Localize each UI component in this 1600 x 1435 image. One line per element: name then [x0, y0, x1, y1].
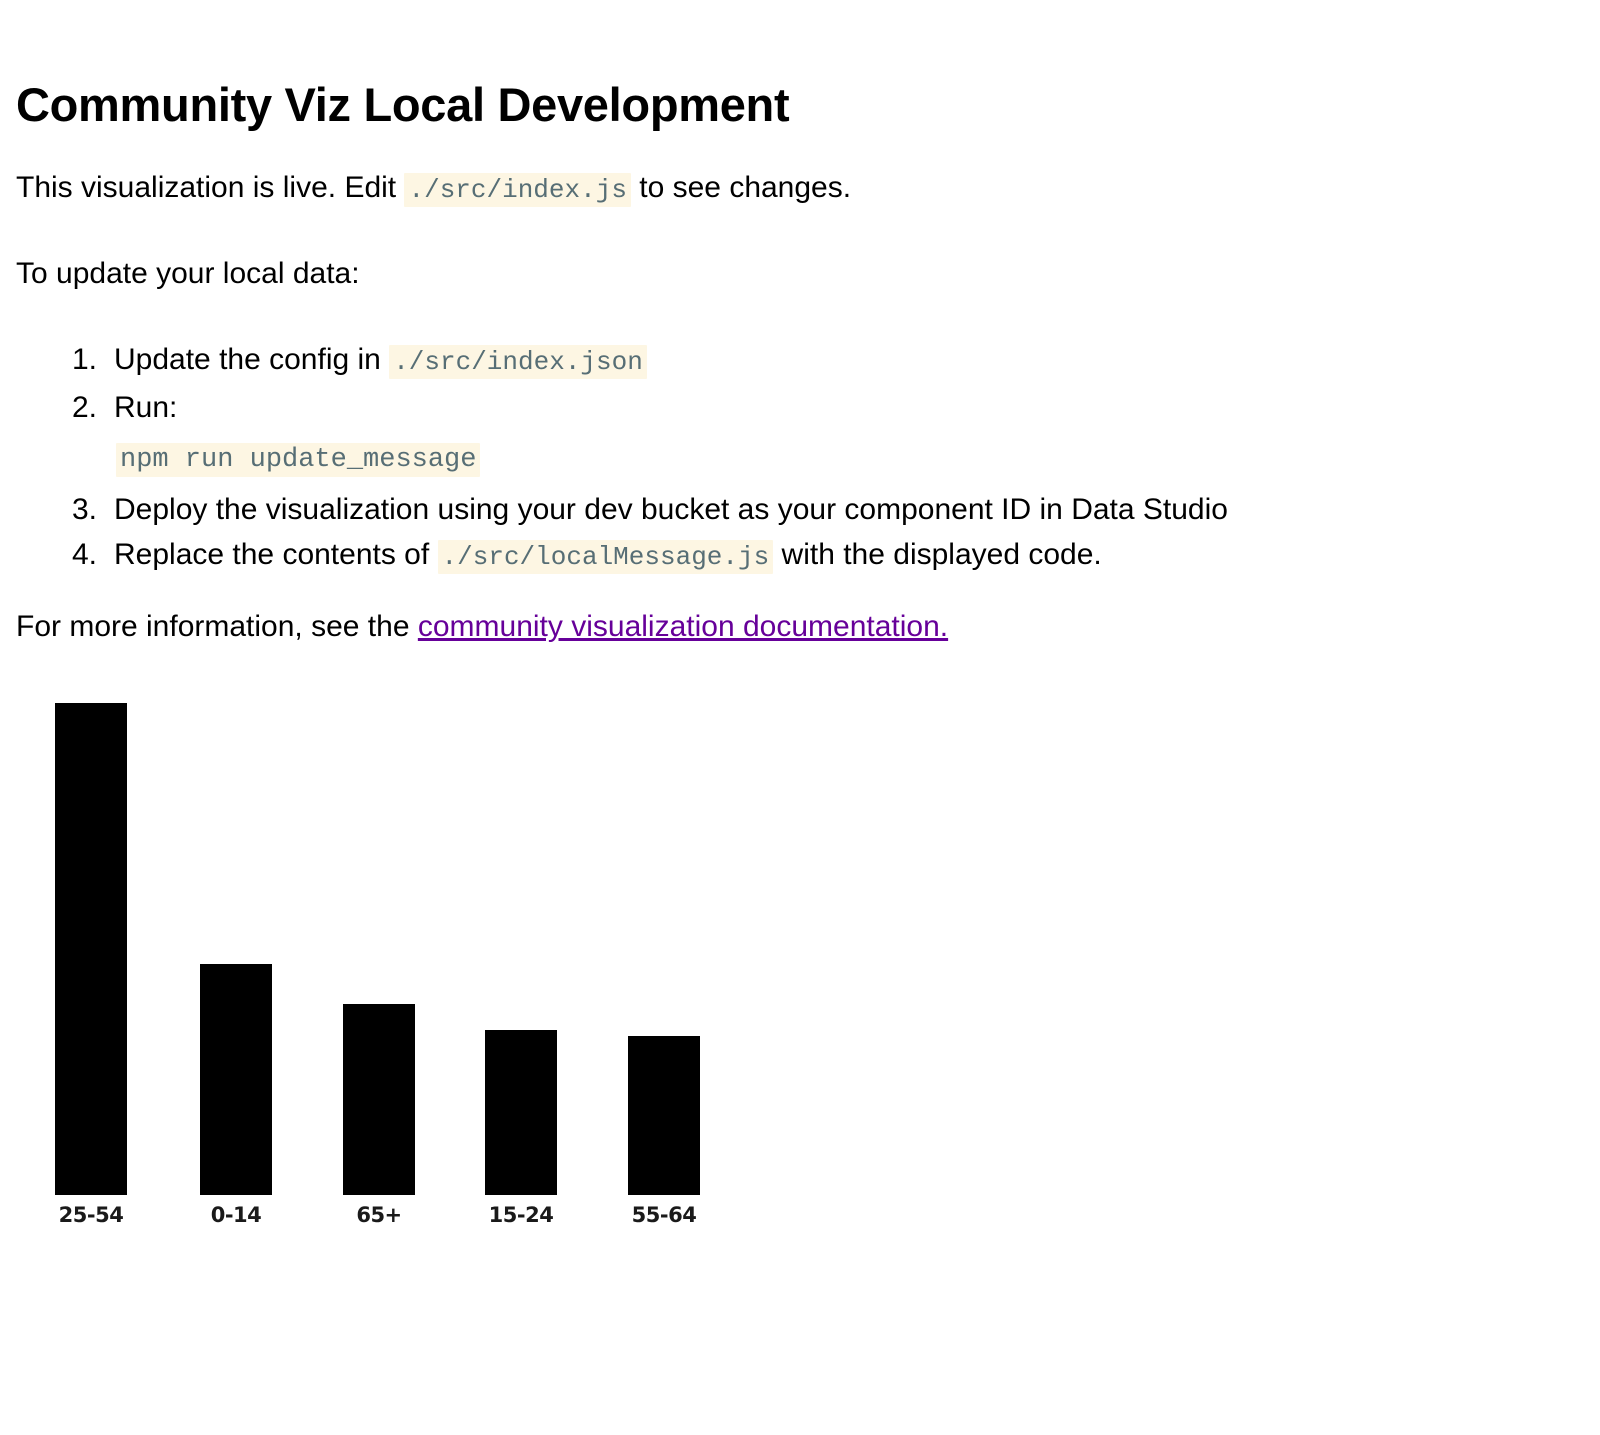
update-instructions-lead: To update your local data: — [16, 254, 360, 294]
bar-chart: 25-540-1465+15-2455-64 — [0, 700, 820, 1260]
intro-paragraph: This visualization is live. Edit ./src/i… — [16, 168, 851, 210]
list-item: 3.Deploy the visualization using your de… — [72, 487, 1228, 532]
chart-bar — [55, 703, 127, 1195]
intro-text-before: This visualization is live. Edit — [16, 171, 404, 204]
bar-category-label: 0-14 — [200, 1203, 272, 1227]
intro-text-after: to see changes. — [631, 171, 851, 204]
step-number: 1. — [72, 337, 97, 382]
chart-bar — [628, 1036, 700, 1195]
step-text-before: Deploy the visualization using your dev … — [114, 493, 1228, 526]
code-index-js: ./src/index.js — [404, 173, 630, 207]
bar-category-label: 55-64 — [628, 1203, 700, 1227]
step-text-after: with the displayed code. — [773, 538, 1102, 571]
bar-category-label: 15-24 — [485, 1203, 557, 1227]
chart-bar — [343, 1004, 415, 1195]
bar-group: 65+ — [343, 700, 415, 1195]
step-text-before: Update the config in — [114, 343, 389, 376]
step-number: 4. — [72, 532, 97, 577]
more-info-text-before: For more information, see the — [16, 610, 418, 643]
update-steps-list: 1.Update the config in ./src/index.json … — [72, 337, 1228, 580]
list-item: 1.Update the config in ./src/index.json — [72, 337, 1228, 385]
code-index-json: ./src/index.json — [389, 345, 647, 379]
step-text-before: Replace the contents of — [114, 538, 438, 571]
bar-category-label: 65+ — [343, 1203, 415, 1227]
page-title: Community Viz Local Development — [16, 77, 789, 133]
list-item: 2.Run: npm run update_message — [72, 385, 1228, 483]
bar-category-label: 25-54 — [55, 1203, 127, 1227]
chart-bar — [200, 964, 272, 1195]
bar-group: 25-54 — [55, 700, 127, 1195]
step-command-block: npm run update_message — [114, 434, 1228, 483]
code-npm-run-update-message: npm run update_message — [116, 443, 480, 477]
more-info-paragraph: For more information, see the community … — [16, 607, 948, 647]
bar-group: 15-24 — [485, 700, 557, 1195]
list-item: 4.Replace the contents of ./src/localMes… — [72, 532, 1228, 580]
step-number: 2. — [72, 385, 97, 430]
chart-plot-area: 25-540-1465+15-2455-64 — [0, 700, 820, 1195]
page-root: Community Viz Local Development This vis… — [0, 0, 1600, 1435]
chart-bar — [485, 1030, 557, 1195]
bar-group: 55-64 — [628, 700, 700, 1195]
step-text-before: Run: — [114, 391, 177, 424]
bar-group: 0-14 — [200, 700, 272, 1195]
community-visualization-documentation-link[interactable]: community visualization documentation. — [418, 610, 948, 643]
step-number: 3. — [72, 487, 97, 532]
code-local-message-js: ./src/localMessage.js — [438, 540, 774, 574]
